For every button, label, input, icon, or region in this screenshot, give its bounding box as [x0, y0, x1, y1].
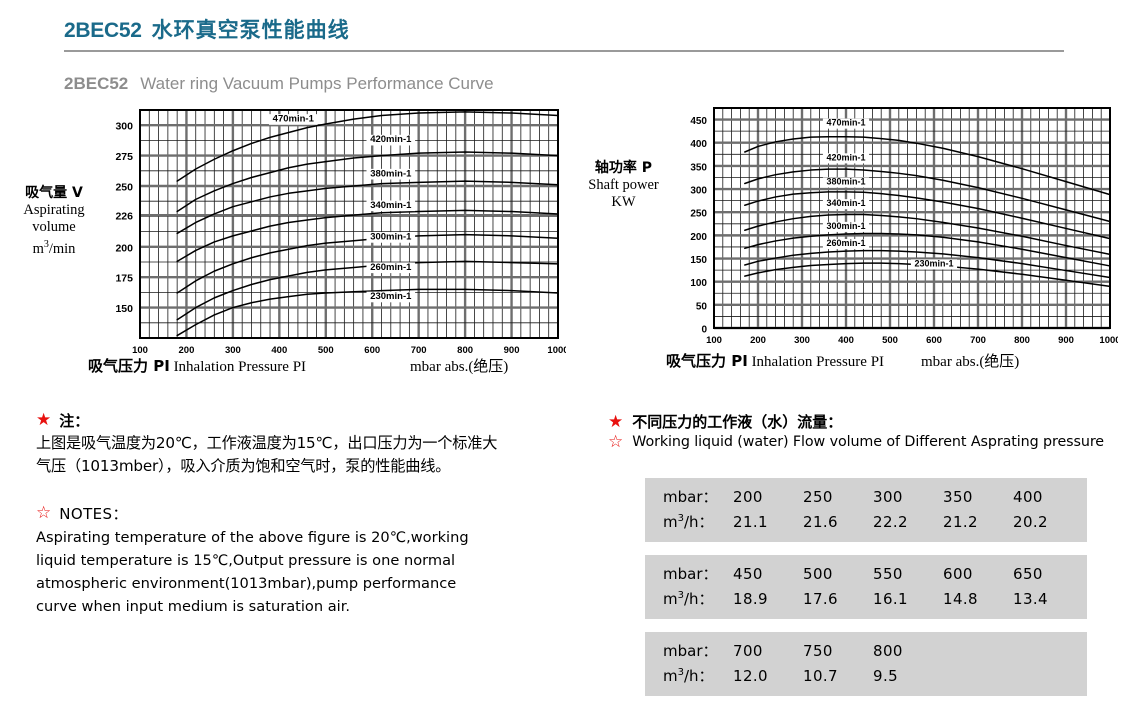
y-tick-label: 250	[690, 209, 707, 220]
curve-label: 470min-1	[826, 118, 865, 128]
flow-cell: 21.6	[803, 513, 873, 531]
star-solid-icon: ★	[608, 412, 623, 431]
page-header: 2BEC52 水环真空泵性能曲线 2BEC52 Water ring Vacuu…	[64, 14, 1064, 44]
row-header-flow: m3/h：	[645, 665, 733, 686]
y-tick-label: 300	[115, 121, 133, 133]
x-tick-label: 900	[1058, 335, 1074, 346]
pressure-cell: 400	[1013, 488, 1083, 506]
pressure-cell: 450	[733, 565, 803, 583]
flow-cell: 12.0	[733, 667, 803, 685]
flow-cell: 16.1	[873, 590, 943, 608]
curve-label: 300min-1	[370, 232, 412, 243]
x-tick-label: 200	[750, 335, 766, 346]
table-row-flow: m3/h：12.010.79.5	[645, 663, 1087, 688]
notes-en-body: Aspirating temperature of the above figu…	[36, 526, 584, 618]
flow-cell: 20.2	[1013, 513, 1083, 531]
flow-cell: 17.6	[803, 590, 873, 608]
right-chart-y-axis-title: 轴功率 P Shaft power KW	[566, 160, 681, 211]
flow-heading-cn: 不同压力的工作液（水）流量：	[632, 412, 842, 432]
x-tick-label: 400	[838, 335, 854, 346]
flow-cell: 21.1	[733, 513, 803, 531]
y-tick-label: 226	[115, 211, 133, 223]
notes-en-heading: ☆ NOTES：	[36, 503, 584, 524]
y-tick-label: 250	[115, 182, 133, 194]
row-header-pressure: mbar：	[645, 486, 733, 507]
pressure-cell: 500	[803, 565, 873, 583]
table-row-flow: m3/h：21.121.622.221.220.2	[645, 509, 1087, 534]
y-tick-label: 200	[690, 232, 707, 243]
pressure-cell: 250	[803, 488, 873, 506]
x-tick-label: 500	[318, 345, 334, 356]
curve-420min-1	[745, 169, 1110, 221]
y-tick-label: 50	[696, 301, 708, 312]
y-tick-label: 150	[115, 303, 133, 315]
notes-cn-line1: 上图是吸气温度为20℃，工作液温度为15℃，出口压力为一个标准大	[36, 432, 596, 455]
x-tick-label: 500	[882, 335, 898, 346]
y-axis-title-en: Shaft power	[566, 177, 681, 194]
right-chart-x-caption: 吸气压力 PI Inhalation Pressure PI	[666, 350, 884, 371]
pressure-cell: 650	[1013, 565, 1083, 583]
notes-section-cn: ★ 注： 上图是吸气温度为20℃，工作液温度为15℃，出口压力为一个标准大 气压…	[36, 410, 596, 478]
flow-heading-en: Working liquid (water) Flow volume of Di…	[632, 432, 1104, 452]
header-divider	[64, 50, 1064, 52]
x-tick-label: 700	[970, 335, 986, 346]
y-axis-title-en1: Aspirating	[2, 202, 106, 219]
table-row-pressure: mbar：700750800	[645, 638, 1087, 663]
notes-cn-heading: ★ 注：	[36, 410, 596, 431]
x-tick-label: 600	[364, 345, 380, 356]
pressure-cell: 800	[873, 642, 943, 660]
y-tick-label: 400	[690, 139, 707, 150]
curve-label: 340min-1	[370, 200, 412, 211]
notes-cn-heading-text: 注：	[59, 410, 89, 431]
chart-aspirating-volume: 吸气量 V Aspirating volume m3/min 150175200…	[0, 100, 566, 385]
row-header-flow: m3/h：	[645, 511, 733, 532]
left-chart-plot: 1501752002262502753001002003004005006007…	[100, 100, 566, 360]
star-solid-icon: ★	[36, 410, 51, 429]
pressure-cell: 350	[943, 488, 1013, 506]
curve-380min-1	[745, 192, 1110, 239]
y-tick-label: 100	[690, 278, 707, 289]
flow-table: mbar：200250300350400m3/h：21.121.622.221.…	[645, 478, 1087, 542]
flow-cell: 13.4	[1013, 590, 1083, 608]
notes-cn-body: 上图是吸气温度为20℃，工作液温度为15℃，出口压力为一个标准大 气压（1013…	[36, 432, 596, 478]
y-tick-label: 275	[115, 151, 133, 163]
pressure-cell: 300	[873, 488, 943, 506]
y-axis-title-cn: 吸气量 V	[2, 185, 106, 202]
flow-heading-en-row: ☆ Working liquid (water) Flow volume of …	[608, 432, 1116, 452]
x-tick-label: 1000	[1099, 335, 1118, 346]
pressure-cell: 550	[873, 565, 943, 583]
star-hollow-icon: ☆	[36, 503, 51, 522]
y-tick-label: 175	[115, 273, 133, 285]
notes-en-heading-text: NOTES：	[59, 503, 128, 524]
y-tick-label: 450	[690, 116, 707, 127]
notes-en-line4: curve when input medium is saturation ai…	[36, 595, 584, 618]
table-row-pressure: mbar：200250300350400	[645, 484, 1087, 509]
curve-label: 230min-1	[370, 291, 412, 302]
right-chart-x-unit: mbar abs.(绝压)	[921, 350, 1019, 371]
page-title-cn: 水环真空泵性能曲线	[152, 14, 350, 44]
pressure-cell: 600	[943, 565, 1013, 583]
flow-cell: 9.5	[873, 667, 943, 685]
curve-label: 380min-1	[826, 176, 865, 186]
right-chart-plot: 0501001502002503003504004501002003004005…	[678, 100, 1118, 352]
y-tick-label: 350	[690, 162, 707, 173]
subtitle-row: 2BEC52 Water ring Vacuum Pumps Performan…	[64, 74, 494, 94]
row-header-pressure: mbar：	[645, 640, 733, 661]
flow-cell: 22.2	[873, 513, 943, 531]
flow-table: mbar：700750800m3/h：12.010.79.5	[645, 632, 1087, 696]
curve-label: 260min-1	[370, 262, 412, 273]
x-tick-label: 300	[794, 335, 810, 346]
page-title-code: 2BEC52	[64, 19, 142, 43]
flow-cell: 14.8	[943, 590, 1013, 608]
chart-shaft-power: 轴功率 P Shaft power KW 0501001502002503003…	[566, 100, 1128, 385]
flow-heading-cn-row: ★ 不同压力的工作液（水）流量：	[608, 412, 1116, 432]
title-row: 2BEC52 水环真空泵性能曲线	[64, 14, 1064, 44]
notes-en-line1: Aspirating temperature of the above figu…	[36, 526, 584, 549]
y-axis-title-unit: KW	[566, 194, 681, 211]
y-tick-label: 300	[690, 186, 707, 197]
star-hollow-icon: ☆	[608, 432, 623, 451]
left-chart-y-axis-title: 吸气量 V Aspirating volume m3/min	[2, 185, 106, 258]
flow-table: mbar：450500550600650m3/h：18.917.616.114.…	[645, 555, 1087, 619]
flow-cell: 18.9	[733, 590, 803, 608]
x-tick-label: 600	[926, 335, 942, 346]
curve-label: 420min-1	[370, 134, 412, 145]
notes-en-line2: liquid temperature is 15℃,Output pressur…	[36, 549, 584, 572]
curve-label: 260min-1	[826, 238, 865, 248]
pressure-cell: 750	[803, 642, 873, 660]
notes-cn-line2: 气压（1013mber），吸入介质为饱和空气时，泵的性能曲线。	[36, 455, 596, 478]
y-axis-title-cn: 轴功率 P	[566, 160, 681, 177]
row-header-pressure: mbar：	[645, 563, 733, 584]
row-header-flow: m3/h：	[645, 588, 733, 609]
curve-label: 300min-1	[826, 221, 865, 231]
x-tick-label: 1000	[547, 345, 566, 356]
subtitle-code: 2BEC52	[64, 74, 128, 94]
curve-label: 420min-1	[826, 152, 865, 162]
flow-cell: 10.7	[803, 667, 873, 685]
x-tick-label: 100	[706, 335, 722, 346]
curve-label: 380min-1	[370, 168, 412, 179]
notes-en-line3: atmospheric environment(1013mbar),pump p…	[36, 572, 584, 595]
y-axis-title-en2: volume	[2, 219, 106, 236]
pressure-cell: 200	[733, 488, 803, 506]
pressure-cell: 700	[733, 642, 803, 660]
flow-volume-heading: ★ 不同压力的工作液（水）流量： ☆ Working liquid (water…	[608, 412, 1116, 452]
y-axis-title-unit: m3/min	[2, 236, 106, 258]
curve-label: 230min-1	[914, 258, 953, 268]
flow-cell: 21.2	[943, 513, 1013, 531]
y-tick-label: 0	[701, 325, 707, 336]
datasheet-page: 2BEC52 水环真空泵性能曲线 2BEC52 Water ring Vacuu…	[0, 0, 1128, 691]
subtitle-en: Water ring Vacuum Pumps Performance Curv…	[140, 74, 493, 94]
left-chart-x-caption: 吸气压力 PI Inhalation Pressure PI	[88, 355, 306, 376]
curve-label: 470min-1	[273, 114, 315, 125]
x-tick-label: 800	[1014, 335, 1030, 346]
table-row-pressure: mbar：450500550600650	[645, 561, 1087, 586]
left-chart-x-unit: mbar abs.(绝压)	[410, 355, 508, 376]
y-tick-label: 200	[115, 242, 133, 254]
flow-volume-tables: mbar：200250300350400m3/h：21.121.622.221.…	[645, 478, 1087, 709]
notes-section-en: ☆ NOTES： Aspirating temperature of the a…	[36, 503, 584, 618]
curve-label: 340min-1	[826, 198, 865, 208]
y-tick-label: 150	[690, 255, 707, 266]
table-row-flow: m3/h：18.917.616.114.813.4	[645, 586, 1087, 611]
